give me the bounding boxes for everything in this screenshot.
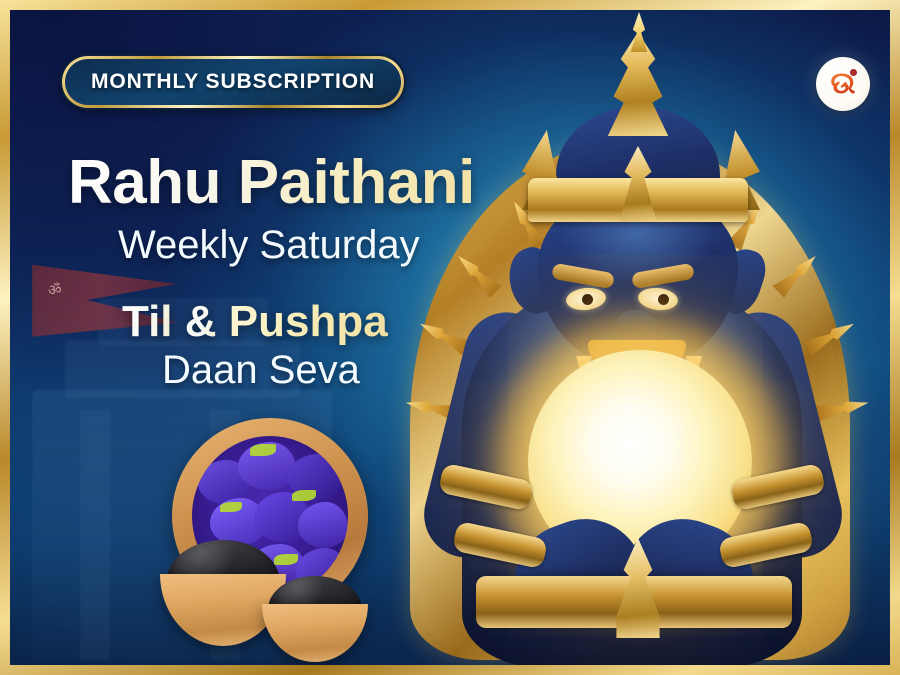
page-title: Rahu Paithani — [68, 152, 475, 214]
offering-word-pushpa: Pushpa — [229, 297, 388, 346]
offering-word-til: Til — [122, 297, 173, 346]
offering-ampersand: & — [185, 297, 217, 346]
banner-artwork-stage: ॐ — [10, 10, 890, 665]
logo-accent-dot — [850, 69, 857, 76]
deity-pupil-right — [658, 294, 669, 305]
brand-logo[interactable]: ଉ — [816, 57, 870, 111]
offering-heading: Til & Pushpa — [122, 300, 388, 344]
monthly-subscription-badge[interactable]: MONTHLY SUBSCRIPTION — [62, 56, 404, 108]
page-subtitle: Weekly Saturday — [118, 225, 420, 265]
banner-copy-block: MONTHLY SUBSCRIPTION Rahu Paithani Weekl… — [10, 10, 480, 665]
deity-pupil-left — [582, 294, 593, 305]
subscription-banner: ॐ — [0, 0, 900, 675]
badge-label: MONTHLY SUBSCRIPTION — [91, 70, 375, 94]
offering-subheading: Daan Seva — [162, 350, 360, 390]
